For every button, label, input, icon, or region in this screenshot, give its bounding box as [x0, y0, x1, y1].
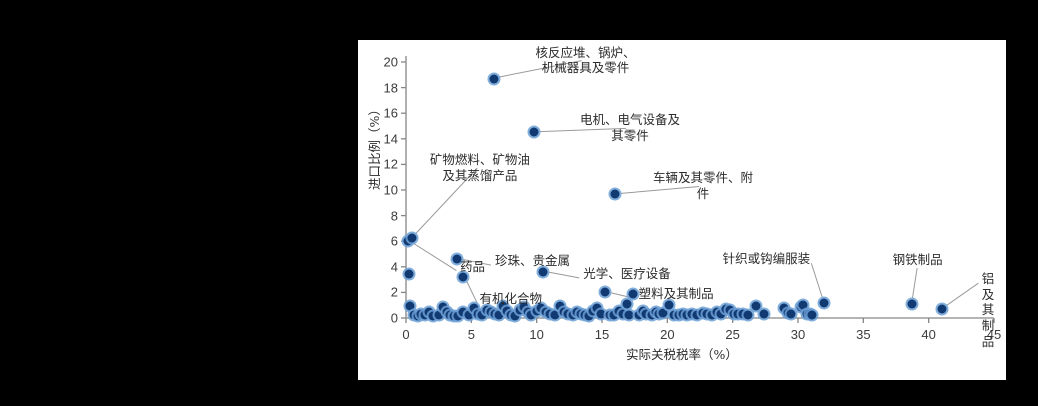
data-point[interactable]	[907, 299, 916, 308]
x-axis-title: 实际关税税率（%）	[626, 344, 738, 363]
annotation-mineral-fuels: 矿物燃料、矿物油 及其蒸馏产品	[430, 152, 530, 183]
annotation-electric-machinery: 电机、电气设备及 其零件	[580, 112, 680, 143]
x-tick-label: 10	[529, 327, 543, 342]
annotation-pearls-precious-metals: 珍珠、贵金属	[495, 253, 570, 269]
data-point[interactable]	[407, 234, 416, 243]
data-point[interactable]	[600, 288, 609, 297]
annotation-knitted-crocheted-apparel: 针织或钩编服装	[723, 251, 811, 267]
y-tick-label: 8	[364, 208, 398, 223]
y-tick-label: 18	[364, 80, 398, 95]
y-tick-label: 4	[364, 259, 398, 274]
data-point[interactable]	[622, 299, 631, 308]
x-tick-label: 20	[660, 327, 674, 342]
screenshot-root: 02468101214161820 051015202530354045 核反应…	[0, 0, 1038, 406]
y-tick-label: 6	[364, 234, 398, 249]
data-point[interactable]	[629, 290, 638, 299]
x-tick-label: 15	[595, 327, 609, 342]
y-tick-label: 20	[364, 55, 398, 70]
annotation-organic-chemicals: 有机化合物	[479, 291, 542, 307]
x-tick-label: 5	[468, 327, 475, 342]
data-point[interactable]	[752, 302, 761, 311]
data-point[interactable]	[405, 302, 414, 311]
data-point[interactable]	[659, 308, 668, 317]
data-point[interactable]	[808, 310, 817, 319]
annotation-nuclear-reactors-boilers: 核反应堆、锅炉、 机械器具及零件	[536, 45, 636, 76]
annotation-pharmaceuticals: 药品	[460, 259, 485, 275]
x-tick-label: 0	[402, 327, 409, 342]
data-point[interactable]	[787, 310, 796, 319]
y-tick-label: 2	[364, 285, 398, 300]
data-point[interactable]	[611, 190, 620, 199]
data-point[interactable]	[489, 74, 498, 83]
scatter-plot-svg	[358, 40, 1006, 380]
x-tick-label: 25	[725, 327, 739, 342]
data-point[interactable]	[539, 267, 548, 276]
annotation-plastics-and-articles: 塑料及其制品	[639, 286, 714, 302]
data-point[interactable]	[625, 310, 634, 319]
annotation-iron-steel-articles: 钢铁制品	[893, 252, 943, 268]
annotation-aluminium-and-articles: 铝及其制品	[982, 271, 1006, 349]
data-point[interactable]	[744, 310, 753, 319]
data-point[interactable]	[820, 299, 829, 308]
x-tick-label: 40	[921, 327, 935, 342]
annotation-optical-medical-equipment: 光学、医疗设备	[583, 266, 671, 282]
chart-panel: 02468101214161820 051015202530354045 核反应…	[358, 40, 1006, 380]
x-tick-label: 35	[856, 327, 870, 342]
x-tick-label: 30	[791, 327, 805, 342]
data-point[interactable]	[596, 309, 605, 318]
data-point[interactable]	[937, 305, 946, 314]
data-point[interactable]	[760, 310, 769, 319]
data-point[interactable]	[664, 301, 673, 310]
annotation-vehicles-and-parts: 车辆及其零件、附 件	[653, 170, 753, 201]
data-point[interactable]	[530, 128, 539, 137]
y-axis-title: 进口比例（%）	[364, 103, 383, 190]
y-tick-label: 0	[364, 311, 398, 326]
data-point[interactable]	[404, 270, 413, 279]
data-point[interactable]	[550, 311, 559, 320]
